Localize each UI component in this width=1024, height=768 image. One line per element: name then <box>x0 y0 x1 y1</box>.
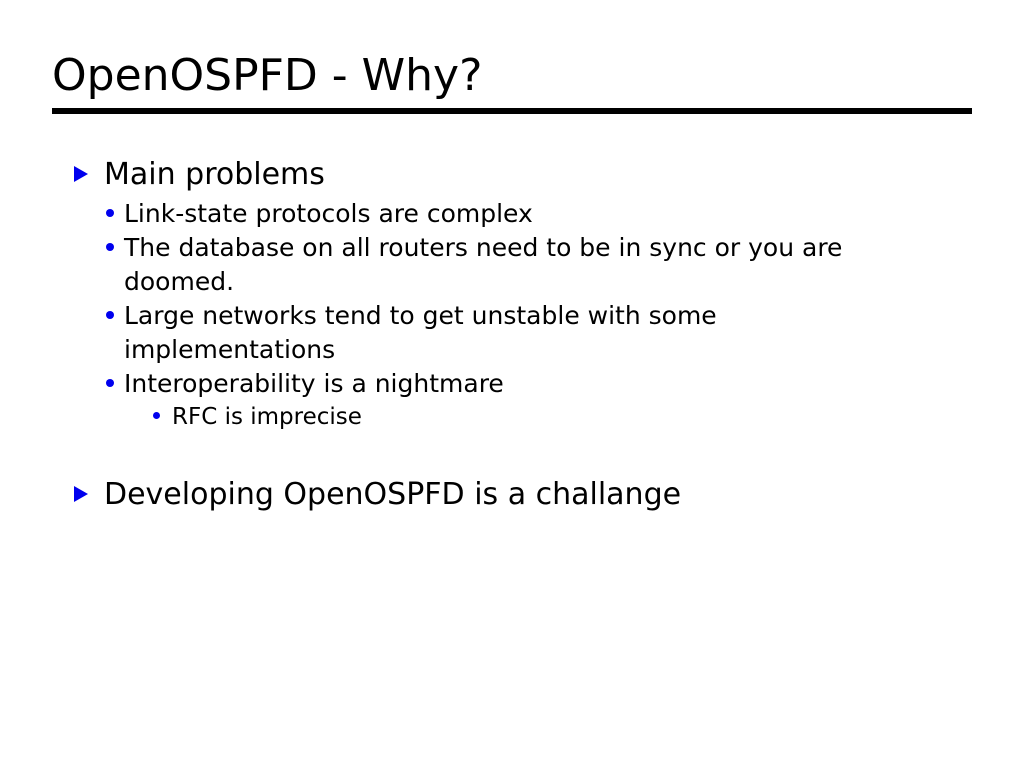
dot-icon <box>106 299 124 319</box>
list-item: Main problems <box>0 155 1024 195</box>
dot-icon <box>153 401 172 419</box>
page-title: OpenOSPFD - Why? <box>52 50 972 102</box>
dot-icon <box>106 367 124 387</box>
spacer <box>0 433 1024 475</box>
dot-icon <box>106 197 124 217</box>
list-item-label: Link-state protocols are complex <box>124 197 533 231</box>
list-item: Interoperability is a nightmare <box>0 367 1024 401</box>
title-underline-rule <box>52 108 972 114</box>
dot-icon <box>106 231 124 251</box>
list-item-label: RFC is imprecise <box>172 401 362 433</box>
list-item: RFC is imprecise <box>0 401 1024 433</box>
list-item: Developing OpenOSPFD is a challange <box>0 475 1024 515</box>
slide-body: Main problems Link-state protocols are c… <box>0 155 1024 517</box>
list-item-label: The database on all routers need to be i… <box>124 231 884 299</box>
list-item: Link-state protocols are complex <box>0 197 1024 231</box>
triangle-right-icon <box>74 155 104 182</box>
list-item-label: Large networks tend to get unstable with… <box>124 299 884 367</box>
slide-title-block: OpenOSPFD - Why? <box>52 50 972 102</box>
list-item: The database on all routers need to be i… <box>0 231 1024 299</box>
list-item-label: Interoperability is a nightmare <box>124 367 504 401</box>
triangle-right-icon <box>74 475 104 502</box>
presentation-slide: OpenOSPFD - Why? Main problems Link-stat… <box>0 0 1024 768</box>
list-item-label: Main problems <box>104 155 325 195</box>
list-item: Large networks tend to get unstable with… <box>0 299 1024 367</box>
list-item-label: Developing OpenOSPFD is a challange <box>104 475 681 515</box>
